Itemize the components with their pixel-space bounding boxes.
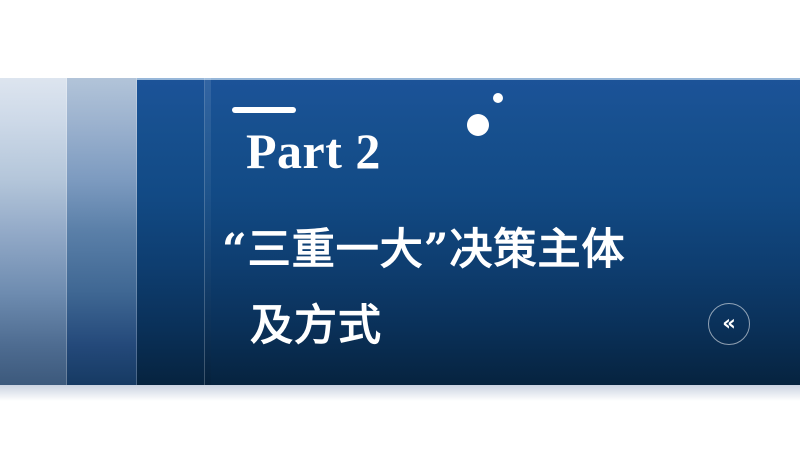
decor-band-1 xyxy=(0,78,67,385)
headline-block: “三重一大”决策主体 及方式 xyxy=(215,212,745,364)
decorative-dot-small-icon xyxy=(493,93,503,103)
headline-line-2: 及方式 xyxy=(215,288,745,364)
double-chevron-left-icon: « xyxy=(722,313,736,334)
decor-band-separator-1 xyxy=(66,78,67,385)
eyebrow-rule xyxy=(232,107,296,113)
decor-band-4-edge xyxy=(205,78,211,385)
decor-band-2 xyxy=(67,78,137,385)
decorative-dot-large-icon xyxy=(467,114,489,136)
decor-band-separator-2 xyxy=(136,78,137,385)
headline-line-1: “三重一大”决策主体 xyxy=(215,212,745,288)
decor-band-separator-3 xyxy=(204,78,205,385)
part-label: Part 2 xyxy=(246,122,381,180)
slide-stage: Part 2 “三重一大”决策主体 及方式 « xyxy=(0,0,800,450)
hero-panel-bottom-fade xyxy=(0,385,800,401)
prev-button[interactable]: « xyxy=(708,303,750,345)
decor-band-3 xyxy=(137,78,205,385)
